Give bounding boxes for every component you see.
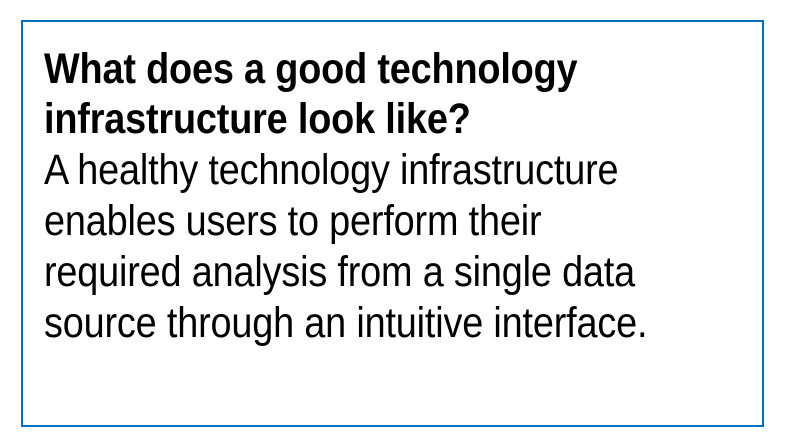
callout-text-block: What does a good technology infrastructu… [44,44,744,349]
callout-box: What does a good technology infrastructu… [21,20,764,427]
body-line-2: enables users to perform their [44,196,660,247]
heading-line-2: infrastructure look like? [44,94,660,144]
callout-heading: What does a good technology infrastructu… [44,44,744,144]
body-line-3: required analysis from a single data [44,247,660,298]
slide-canvas: What does a good technology infrastructu… [0,0,788,448]
body-line-1: A healthy technology infrastructure [44,145,660,196]
heading-line-1: What does a good technology [44,44,660,94]
callout-body: A healthy technology infrastructure enab… [44,145,744,349]
body-line-4: source through an intuitive interface. [44,298,660,349]
